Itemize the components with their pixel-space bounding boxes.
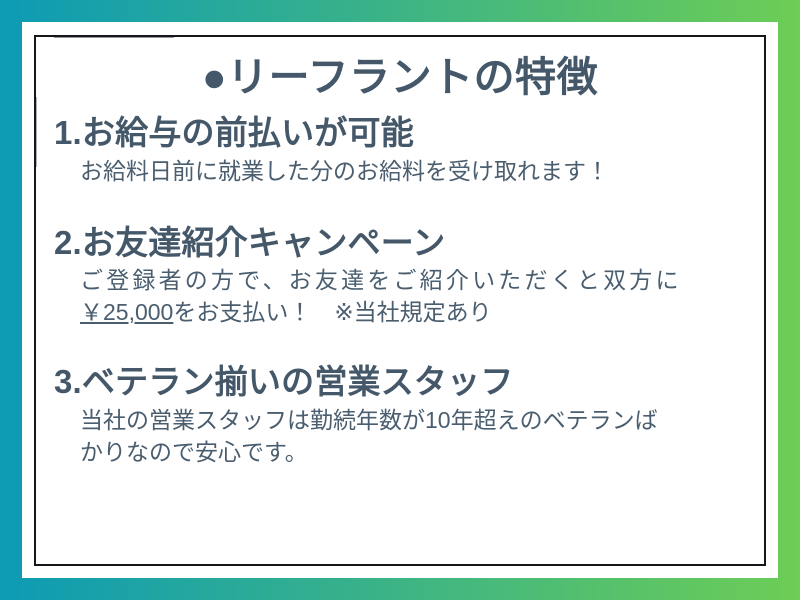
feature-body-line-3-2: かりなので安心です。 bbox=[80, 436, 746, 468]
feature-body-line-2-2: ￥25,000をお支払い！ ※当社規定あり bbox=[80, 296, 746, 328]
feature-body-line-2-1: ご登録者の方で、お友達をご紹介いただくと双方に bbox=[80, 264, 746, 296]
referral-amount: ￥25,000 bbox=[80, 299, 173, 325]
page-title: ●リーフラントの特徴 bbox=[54, 55, 746, 99]
slide-page: ●リーフラントの特徴 1.お給与の前払いが可能 お給料日前に就業した分のお給料を… bbox=[22, 22, 778, 578]
feature-item-2: 2.お友達紹介キャンペーン ご登録者の方で、お友達をご紹介いただくと双方に ￥2… bbox=[54, 223, 746, 329]
feature-heading-3: 3.ベテラン揃いの営業スタッフ bbox=[54, 362, 746, 402]
feature-heading-2: 2.お友達紹介キャンペーン bbox=[54, 223, 746, 263]
feature-body-1: お給料日前に就業した分のお給料を受け取れます！ bbox=[54, 155, 746, 187]
feature-body-3: 当社の営業スタッフは勤続年数が10年超えのベテランば かりなので安心です。 bbox=[54, 404, 746, 468]
slide-content: ●リーフラントの特徴 1.お給与の前払いが可能 お給料日前に就業した分のお給料を… bbox=[36, 37, 764, 564]
content-frame-border: ●リーフラントの特徴 1.お給与の前払いが可能 お給料日前に就業した分のお給料を… bbox=[34, 35, 766, 566]
referral-amount-suffix: をお支払い！ ※当社規定あり bbox=[173, 299, 491, 325]
feature-body-line-1-1: お給料日前に就業した分のお給料を受け取れます！ bbox=[80, 155, 746, 187]
feature-item-3: 3.ベテラン揃いの営業スタッフ 当社の営業スタッフは勤続年数が10年超えのベテラ… bbox=[54, 362, 746, 468]
feature-item-1: 1.お給与の前払いが可能 お給料日前に就業した分のお給料を受け取れます！ bbox=[54, 113, 746, 186]
slide-canvas: ●リーフラントの特徴 1.お給与の前払いが可能 お給料日前に就業した分のお給料を… bbox=[0, 0, 800, 600]
feature-heading-1: 1.お給与の前払いが可能 bbox=[54, 113, 746, 153]
feature-body-2: ご登録者の方で、お友達をご紹介いただくと双方に ￥25,000をお支払い！ ※当… bbox=[54, 264, 746, 328]
feature-body-line-3-1: 当社の営業スタッフは勤続年数が10年超えのベテランば bbox=[80, 404, 746, 436]
